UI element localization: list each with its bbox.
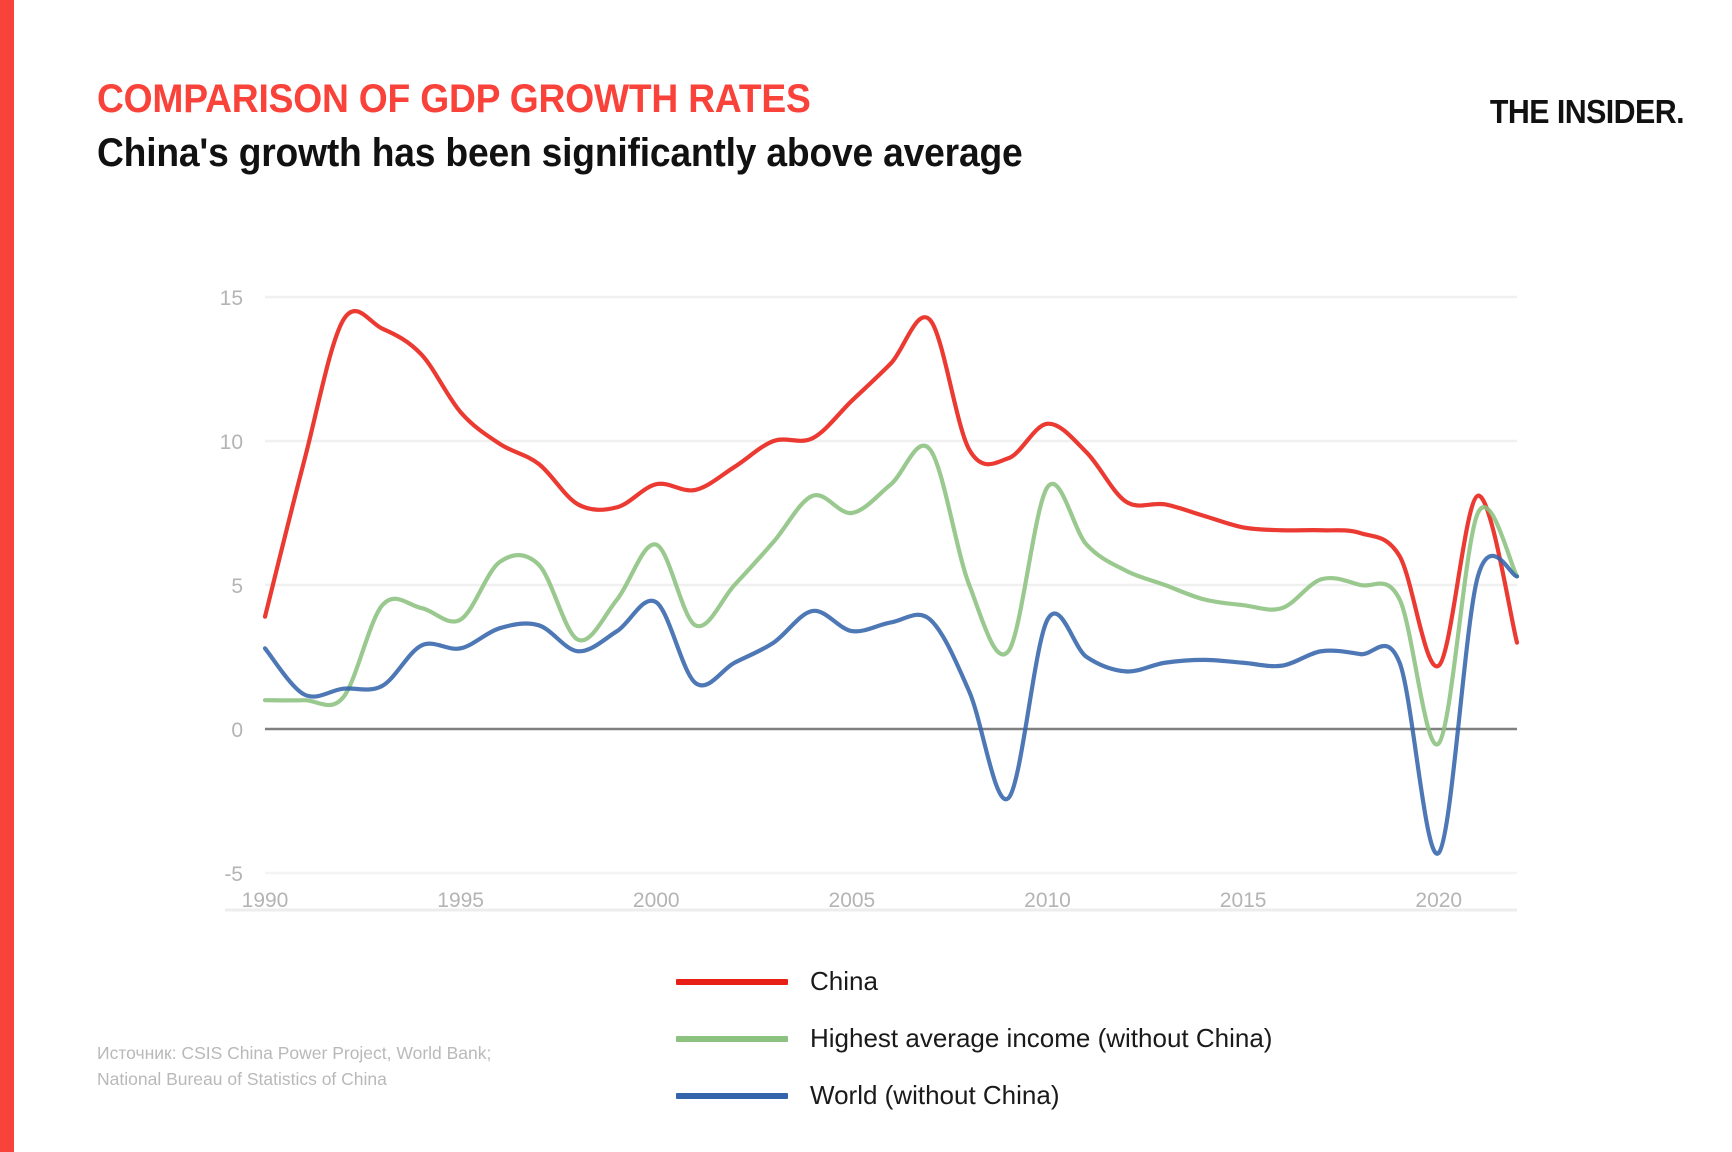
legend-swatch-highest-average-income <box>676 1036 788 1042</box>
svg-text:2010: 2010 <box>1024 889 1071 912</box>
svg-text:-5: -5 <box>224 863 243 886</box>
svg-text:2020: 2020 <box>1415 889 1462 912</box>
svg-text:10: 10 <box>220 431 243 454</box>
source-line-2: National Bureau of Statistics of China <box>97 1066 491 1092</box>
svg-text:1995: 1995 <box>437 889 484 912</box>
legend-label-china: China <box>810 966 878 997</box>
chart-legend: China Highest average income (without Ch… <box>676 966 1272 1111</box>
series-line <box>265 556 1517 854</box>
legend-item-highest-average-income: Highest average income (without China) <box>676 1023 1272 1054</box>
legend-label-world: World (without China) <box>810 1080 1060 1111</box>
series-line <box>265 446 1517 745</box>
svg-text:5: 5 <box>231 575 243 598</box>
chart-y-axis-ticks: 151050-5 <box>220 287 243 886</box>
chart-series-lines <box>265 311 1517 854</box>
legend-item-world: World (without China) <box>676 1080 1272 1111</box>
series-line <box>265 311 1517 666</box>
svg-text:15: 15 <box>220 287 243 310</box>
svg-text:0: 0 <box>231 719 243 742</box>
legend-swatch-world <box>676 1093 788 1099</box>
svg-text:2005: 2005 <box>829 889 876 912</box>
source-note: Источник: CSIS China Power Project, Worl… <box>97 1040 491 1093</box>
svg-text:1990: 1990 <box>242 889 289 912</box>
legend-swatch-china <box>676 979 788 985</box>
legend-item-china: China <box>676 966 1272 997</box>
legend-label-highest-average-income: Highest average income (without China) <box>810 1023 1272 1054</box>
source-line-1: Источник: CSIS China Power Project, Worl… <box>97 1040 491 1066</box>
chart-gridlines <box>265 297 1517 873</box>
svg-text:2015: 2015 <box>1220 889 1267 912</box>
svg-text:2000: 2000 <box>633 889 680 912</box>
